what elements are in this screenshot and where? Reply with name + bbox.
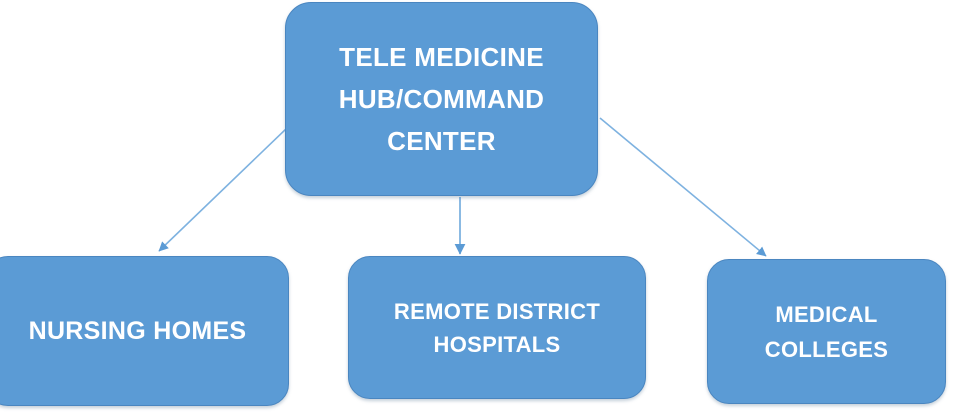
node-tele-medicine-hub[interactable]: TELE MEDICINE HUB/COMMAND CENTER: [285, 2, 598, 196]
node-label-hub: TELE MEDICINE HUB/COMMAND CENTER: [286, 36, 597, 162]
node-medical-colleges[interactable]: MEDICAL COLLEGES: [707, 259, 946, 404]
node-label-medical-colleges: MEDICAL COLLEGES: [708, 297, 945, 367]
node-label-remote-district-hospitals: REMOTE DISTRICT HOSPITALS: [349, 295, 645, 361]
edge-hub-medical-colleges: [600, 118, 766, 256]
node-nursing-homes[interactable]: NURSING HOMES: [0, 256, 289, 406]
node-remote-district-hospitals[interactable]: REMOTE DISTRICT HOSPITALS: [348, 256, 646, 399]
edge-hub-nursing-homes: [159, 127, 288, 251]
diagram-canvas: TELE MEDICINE HUB/COMMAND CENTER NURSING…: [0, 0, 957, 412]
node-label-nursing-homes: NURSING HOMES: [0, 314, 288, 348]
